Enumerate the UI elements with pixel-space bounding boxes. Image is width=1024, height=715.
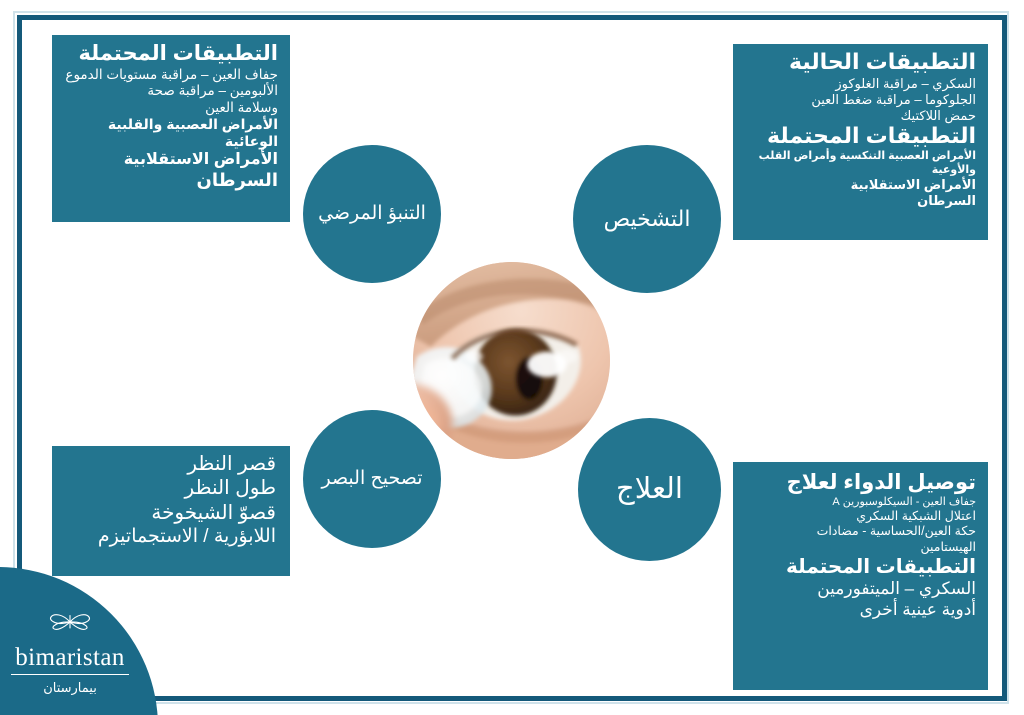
panel-line: وسلامة العين [64, 100, 278, 116]
panel-line: اعتلال الشبكية السكري [745, 509, 976, 524]
panel-diagnosis-applications: التطبيقات الحالية السكري – مراقبة الغلوك… [733, 44, 988, 240]
panel-line: الوعائية [64, 133, 278, 150]
eye-contact-lens-photo [413, 262, 610, 459]
panel-line: جفاف العين – مراقبة مستويات الدموع [64, 67, 278, 83]
panel-vision-correction-conditions: قصر النظر طول النظر قصوّ الشيخوخة اللابؤ… [52, 446, 290, 576]
panel-line: حكة العين/الحساسية - مضادات [745, 524, 976, 539]
eye-photo-illustration [413, 262, 610, 459]
infographic-canvas: التطبيقات المحتملة جفاف العين – مراقبة م… [0, 0, 1024, 715]
node-label: تصحيح البصر [321, 467, 422, 492]
panel-line: السرطان [745, 193, 976, 209]
node-label: التنبؤ المرضي [318, 202, 426, 227]
panel-heading-current: توصيل الدواء لعلاج [745, 470, 976, 496]
panel-line: الأمراض العصبية التنكسية وأمراض القلب وا… [745, 150, 976, 177]
panel-line: جفاف العين - السيكلوسبورين A [745, 496, 976, 509]
panel-line: السكري – الميتفورمين [745, 579, 976, 600]
panel-line: الأمراض الاستقلابية [64, 150, 278, 170]
panel-line: قصوّ الشيخوخة [66, 501, 276, 525]
node-label: العلاج [616, 471, 683, 509]
panel-line: الأمراض الاستقلابية [745, 177, 976, 193]
panel-line: حمض اللاكتيك [745, 108, 976, 124]
logo-wordmark: bimaristan [11, 644, 129, 675]
panel-line: السرطان [64, 170, 278, 192]
panel-line: أدوية عينية أخرى [745, 600, 976, 621]
panel-line: الهيستامين [745, 540, 976, 555]
panel-line: السكري – مراقبة الغلوكوز [745, 76, 976, 92]
panel-treatment-applications: توصيل الدواء لعلاج جفاف العين - السيكلوس… [733, 462, 988, 690]
panel-line: قصر النظر [66, 452, 276, 476]
node-label: التشخيص [604, 205, 691, 234]
dragonfly-icon [0, 609, 140, 640]
panel-heading: التطبيقات المحتملة [64, 41, 278, 67]
logo-wordmark-arabic: بيمارستان [0, 680, 140, 696]
logo-stack: bimaristan بيمارستان [0, 609, 140, 696]
panel-line: طول النظر [66, 476, 276, 500]
panel-line: الألبومين – مراقبة صحة [64, 83, 278, 99]
panel-line: اللابؤرية / الاستجماتيزم [66, 525, 276, 548]
bimaristan-logo: bimaristan بيمارستان [0, 567, 158, 715]
panel-line: الجلوكوما – مراقبة ضغط العين [745, 92, 976, 108]
panel-line: الأمراض العصبية والقلبية [64, 116, 278, 133]
panel-heading-current: التطبيقات الحالية [745, 49, 976, 76]
panel-heading-potential: التطبيقات المحتملة [745, 555, 976, 579]
panel-heading-potential: التطبيقات المحتملة [745, 123, 976, 150]
panel-potential-applications-prognosis: التطبيقات المحتملة جفاف العين – مراقبة م… [52, 35, 290, 222]
